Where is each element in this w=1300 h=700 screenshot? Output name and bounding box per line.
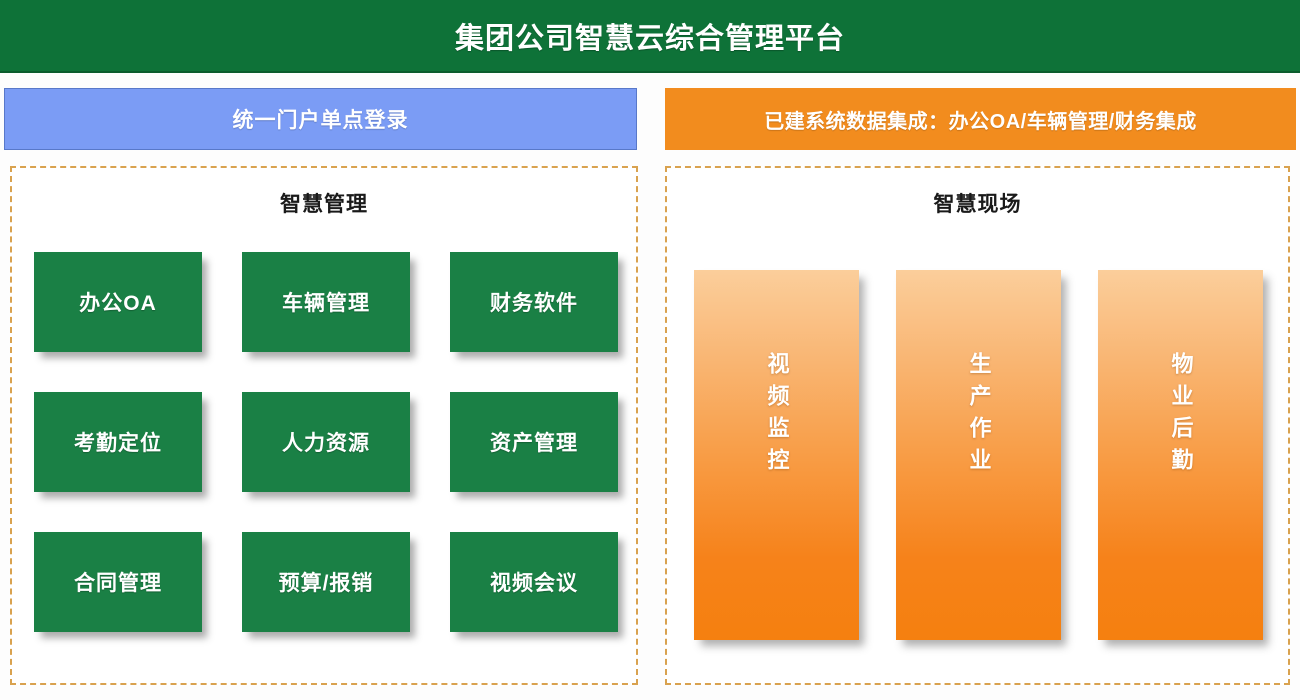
- management-card-label: 人力资源: [282, 427, 370, 457]
- site-card[interactable]: 视频监控: [694, 270, 859, 640]
- smart-site-panel: 智慧现场 视频监控 生产作业 物业后勤: [665, 166, 1290, 685]
- management-card-label: 考勤定位: [74, 427, 162, 457]
- management-card[interactable]: 车辆管理: [242, 252, 410, 352]
- management-card[interactable]: 资产管理: [450, 392, 618, 492]
- portal-sso-bar[interactable]: 统一门户单点登录: [4, 88, 637, 150]
- management-card-label: 车辆管理: [282, 287, 370, 317]
- management-card-label: 预算/报销: [279, 567, 374, 597]
- management-card[interactable]: 办公OA: [34, 252, 202, 352]
- site-card[interactable]: 生产作业: [896, 270, 1061, 640]
- management-card-label: 视频会议: [490, 567, 578, 597]
- management-card[interactable]: 预算/报销: [242, 532, 410, 632]
- portal-sso-label: 统一门户单点登录: [233, 104, 409, 134]
- management-card[interactable]: 考勤定位: [34, 392, 202, 492]
- management-card-label: 财务软件: [490, 287, 578, 317]
- platform-architecture-diagram: 集团公司智慧云综合管理平台 统一门户单点登录 已建系统数据集成：办公OA/车辆管…: [0, 0, 1300, 700]
- management-card[interactable]: 视频会议: [450, 532, 618, 632]
- site-card-label: 视频监控: [761, 352, 793, 480]
- management-card[interactable]: 财务软件: [450, 252, 618, 352]
- management-card-label: 合同管理: [74, 567, 162, 597]
- management-card[interactable]: 合同管理: [34, 532, 202, 632]
- site-card[interactable]: 物业后勤: [1098, 270, 1263, 640]
- management-card[interactable]: 人力资源: [242, 392, 410, 492]
- page-header: 集团公司智慧云综合管理平台: [0, 0, 1300, 73]
- page-title: 集团公司智慧云综合管理平台: [455, 15, 845, 57]
- management-card-label: 资产管理: [490, 427, 578, 457]
- smart-management-panel: 智慧管理 办公OA 车辆管理 财务软件 考勤定位 人力资源 资产管理 合同管理: [10, 166, 638, 685]
- site-card-grid: 视频监控 生产作业 物业后勤: [694, 270, 1263, 640]
- site-card-label: 生产作业: [963, 352, 995, 480]
- system-integration-bar[interactable]: 已建系统数据集成：办公OA/车辆管理/财务集成: [665, 88, 1296, 150]
- smart-management-title: 智慧管理: [12, 188, 636, 218]
- management-card-grid: 办公OA 车辆管理 财务软件 考勤定位 人力资源 资产管理 合同管理 预算/报销: [34, 252, 618, 632]
- system-integration-label: 已建系统数据集成：办公OA/车辆管理/财务集成: [764, 105, 1197, 134]
- smart-site-title: 智慧现场: [667, 188, 1288, 218]
- management-card-label: 办公OA: [79, 287, 157, 317]
- site-card-label: 物业后勤: [1165, 352, 1197, 480]
